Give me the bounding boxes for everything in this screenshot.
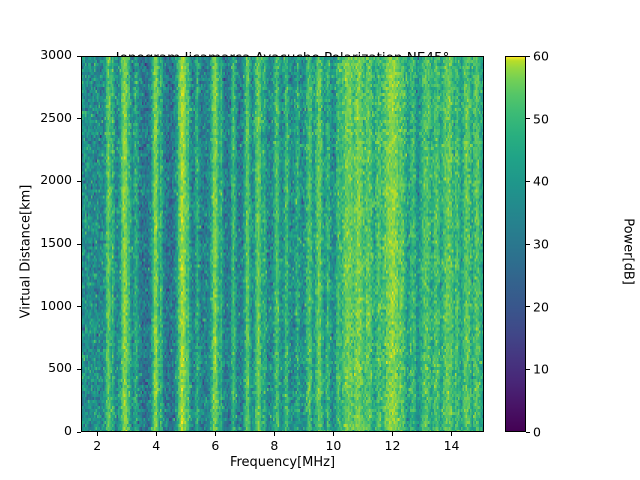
y-tick-label: 2500: [0, 110, 72, 125]
colorbar-tick-mark: [526, 244, 530, 245]
x-tick-label: 12: [385, 438, 401, 453]
colorbar-tick-label: 40: [533, 174, 549, 189]
y-tick-label: 3000: [0, 47, 72, 62]
x-tick-mark: [97, 432, 98, 436]
x-tick-mark: [156, 432, 157, 436]
colorbar-tick-label: 10: [533, 362, 549, 377]
y-tick-mark: [77, 432, 81, 433]
y-tick-mark: [77, 306, 81, 307]
y-tick-label: 500: [0, 360, 72, 375]
y-tick-label: 0: [0, 423, 72, 438]
colorbar-tick-label: 50: [533, 111, 549, 126]
colorbar[interactable]: [505, 56, 526, 432]
y-axis-label: Virtual Distance[km]: [19, 122, 34, 382]
y-tick-label: 1500: [0, 235, 72, 250]
y-tick-label: 1000: [0, 298, 72, 313]
x-tick-label: 8: [270, 438, 278, 453]
y-tick-mark: [77, 56, 81, 57]
y-tick-mark: [77, 118, 81, 119]
x-tick-label: 2: [93, 438, 101, 453]
y-tick-label: 2000: [0, 172, 72, 187]
x-tick-mark: [215, 432, 216, 436]
x-tick-label: 10: [325, 438, 341, 453]
x-tick-mark: [392, 432, 393, 436]
colorbar-tick-mark: [526, 306, 530, 307]
colorbar-label: Power[dB]: [621, 122, 636, 382]
colorbar-tick-label: 0: [533, 425, 541, 440]
ionogram-figure: Ionogram Jicamarca-Ayacucho Polarization…: [0, 0, 640, 480]
colorbar-tick-label: 20: [533, 299, 549, 314]
colorbar-tick-label: 30: [533, 237, 549, 252]
x-tick-label: 6: [211, 438, 219, 453]
colorbar-tick-mark: [526, 181, 530, 182]
x-tick-mark: [274, 432, 275, 436]
y-tick-mark: [77, 181, 81, 182]
colorbar-tick-mark: [526, 369, 530, 370]
x-tick-label: 14: [444, 438, 460, 453]
ionogram-heatmap: [82, 57, 484, 432]
y-tick-mark: [77, 369, 81, 370]
x-tick-mark: [333, 432, 334, 436]
plot-area[interactable]: [81, 56, 484, 432]
x-axis-label: Frequency[MHz]: [81, 455, 484, 470]
colorbar-tick-mark: [526, 118, 530, 119]
colorbar-tick-label: 60: [533, 49, 549, 64]
colorbar-tick-mark: [526, 56, 530, 57]
x-tick-mark: [451, 432, 452, 436]
x-tick-label: 4: [152, 438, 160, 453]
colorbar-tick-mark: [526, 432, 530, 433]
y-tick-mark: [77, 244, 81, 245]
